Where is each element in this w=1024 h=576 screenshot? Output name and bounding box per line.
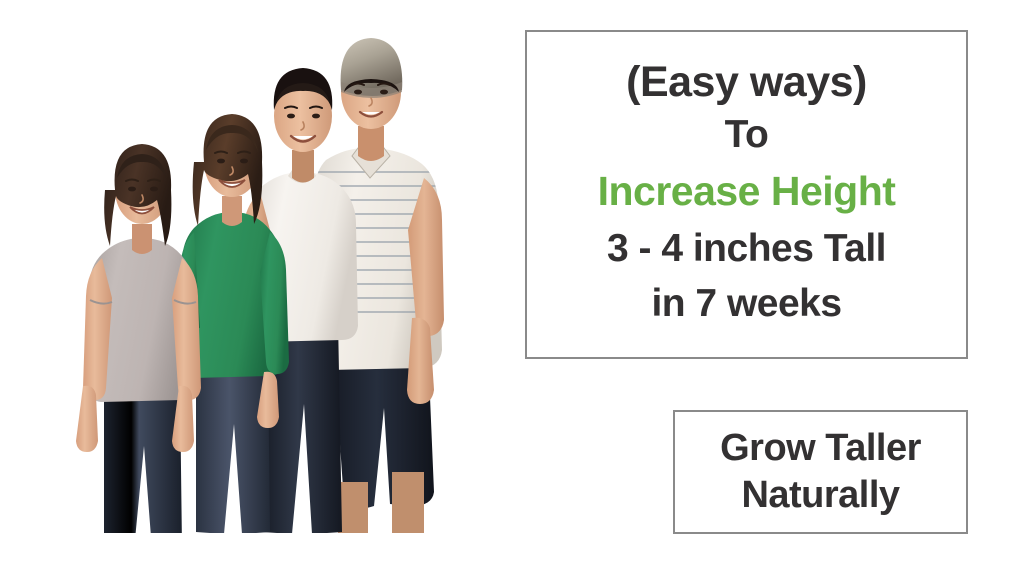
group-photo-panel (0, 0, 500, 576)
headline-line-inches-tall: 3 - 4 inches Tall (537, 221, 956, 277)
headline-line-easy-ways: (Easy ways) (537, 55, 956, 109)
tagline-line-grow-taller: Grow Taller (685, 425, 956, 472)
headline-line-in-7-weeks: in 7 weeks (537, 277, 956, 331)
group-photo-image (0, 0, 500, 576)
tagline-callout-box: Grow Taller Naturally (673, 410, 968, 534)
headline-callout-box: (Easy ways) To Increase Height 3 - 4 inc… (525, 30, 968, 359)
headline-line-increase-height: Increase Height (537, 161, 956, 221)
headline-line-to: To (537, 109, 956, 161)
tagline-line-naturally: Naturally (685, 472, 956, 519)
